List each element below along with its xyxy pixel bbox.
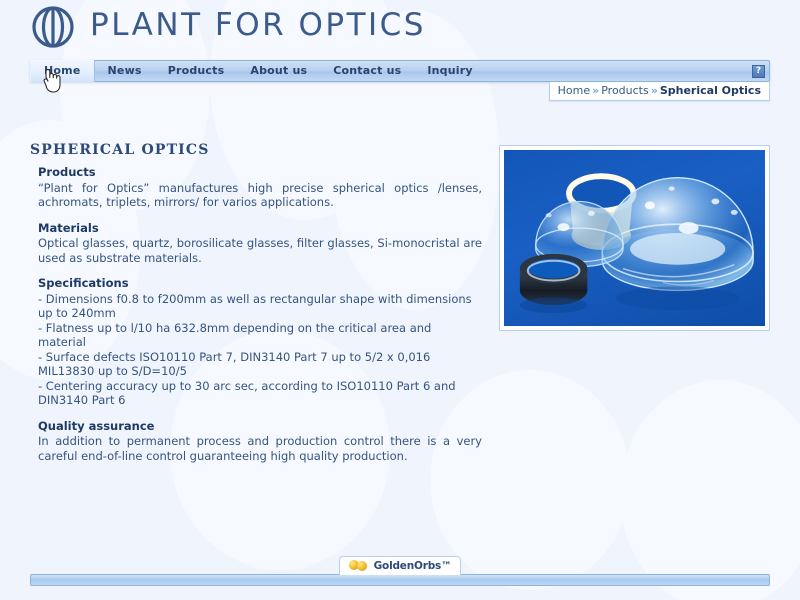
nav-item-inquiry[interactable]: Inquiry — [414, 60, 485, 82]
section-body: In addition to permanent process and pro… — [38, 434, 482, 463]
content-section: Quality assuranceIn addition to permanen… — [38, 419, 482, 464]
main-content: SPHERICAL OPTICS Products“Plant for Opti… — [0, 105, 800, 545]
section-body: “Plant for Optics” manufactures high pre… — [38, 181, 482, 210]
logo[interactable]: PLANT FOR OPTICS — [30, 4, 426, 50]
breadcrumb-item-spherical-optics: Spherical Optics — [660, 84, 761, 97]
nav-item-products[interactable]: Products — [155, 60, 238, 82]
footer-bar — [30, 574, 770, 586]
site-header: PLANT FOR OPTICS — [0, 0, 800, 56]
section-heading: Specifications — [38, 276, 482, 291]
brand-title: PLANT FOR OPTICS — [90, 10, 426, 44]
spherical-optics-photo — [504, 150, 765, 326]
nav-item-news[interactable]: News — [95, 60, 155, 82]
content-section: MaterialsOptical glasses, quartz, borosi… — [38, 221, 482, 266]
goldenorbs-label: GoldenOrbs™ — [374, 560, 452, 572]
nav-item-home[interactable]: Home — [30, 60, 95, 82]
section-heading: Products — [38, 165, 482, 180]
lens-circle-logo-icon — [30, 4, 76, 50]
nav-item-about-us[interactable]: About us — [237, 60, 320, 82]
section-heading: Materials — [38, 221, 482, 236]
section-body: - Dimensions f0.8 to f200mm as well as r… — [38, 292, 482, 408]
breadcrumb-item-home[interactable]: Home — [558, 84, 590, 97]
section-body: Optical glasses, quartz, borosilicate gl… — [38, 236, 482, 265]
goldenorbs-badge[interactable]: GoldenOrbs™ — [339, 556, 461, 575]
golden-orbs-icon — [349, 559, 369, 573]
breadcrumb-separator-icon: » — [651, 84, 658, 97]
content-section: Products“Plant for Optics” manufactures … — [38, 165, 482, 210]
content-column: Products“Plant for Optics” manufactures … — [38, 165, 482, 474]
breadcrumb-item-products[interactable]: Products — [601, 84, 649, 97]
main-navigation[interactable]: HomeNewsProductsAbout usContact usInquir… — [30, 60, 770, 82]
product-photo-frame — [499, 145, 770, 331]
content-section: Specifications- Dimensions f0.8 to f200m… — [38, 276, 482, 408]
language-selector-icon[interactable]: ? — [752, 65, 765, 78]
breadcrumb-separator-icon: » — [592, 84, 599, 97]
nav-item-contact-us[interactable]: Contact us — [320, 60, 414, 82]
page-title: SPHERICAL OPTICS — [30, 142, 210, 158]
breadcrumb: Home»Products»Spherical Optics — [549, 82, 770, 101]
section-heading: Quality assurance — [38, 419, 482, 434]
